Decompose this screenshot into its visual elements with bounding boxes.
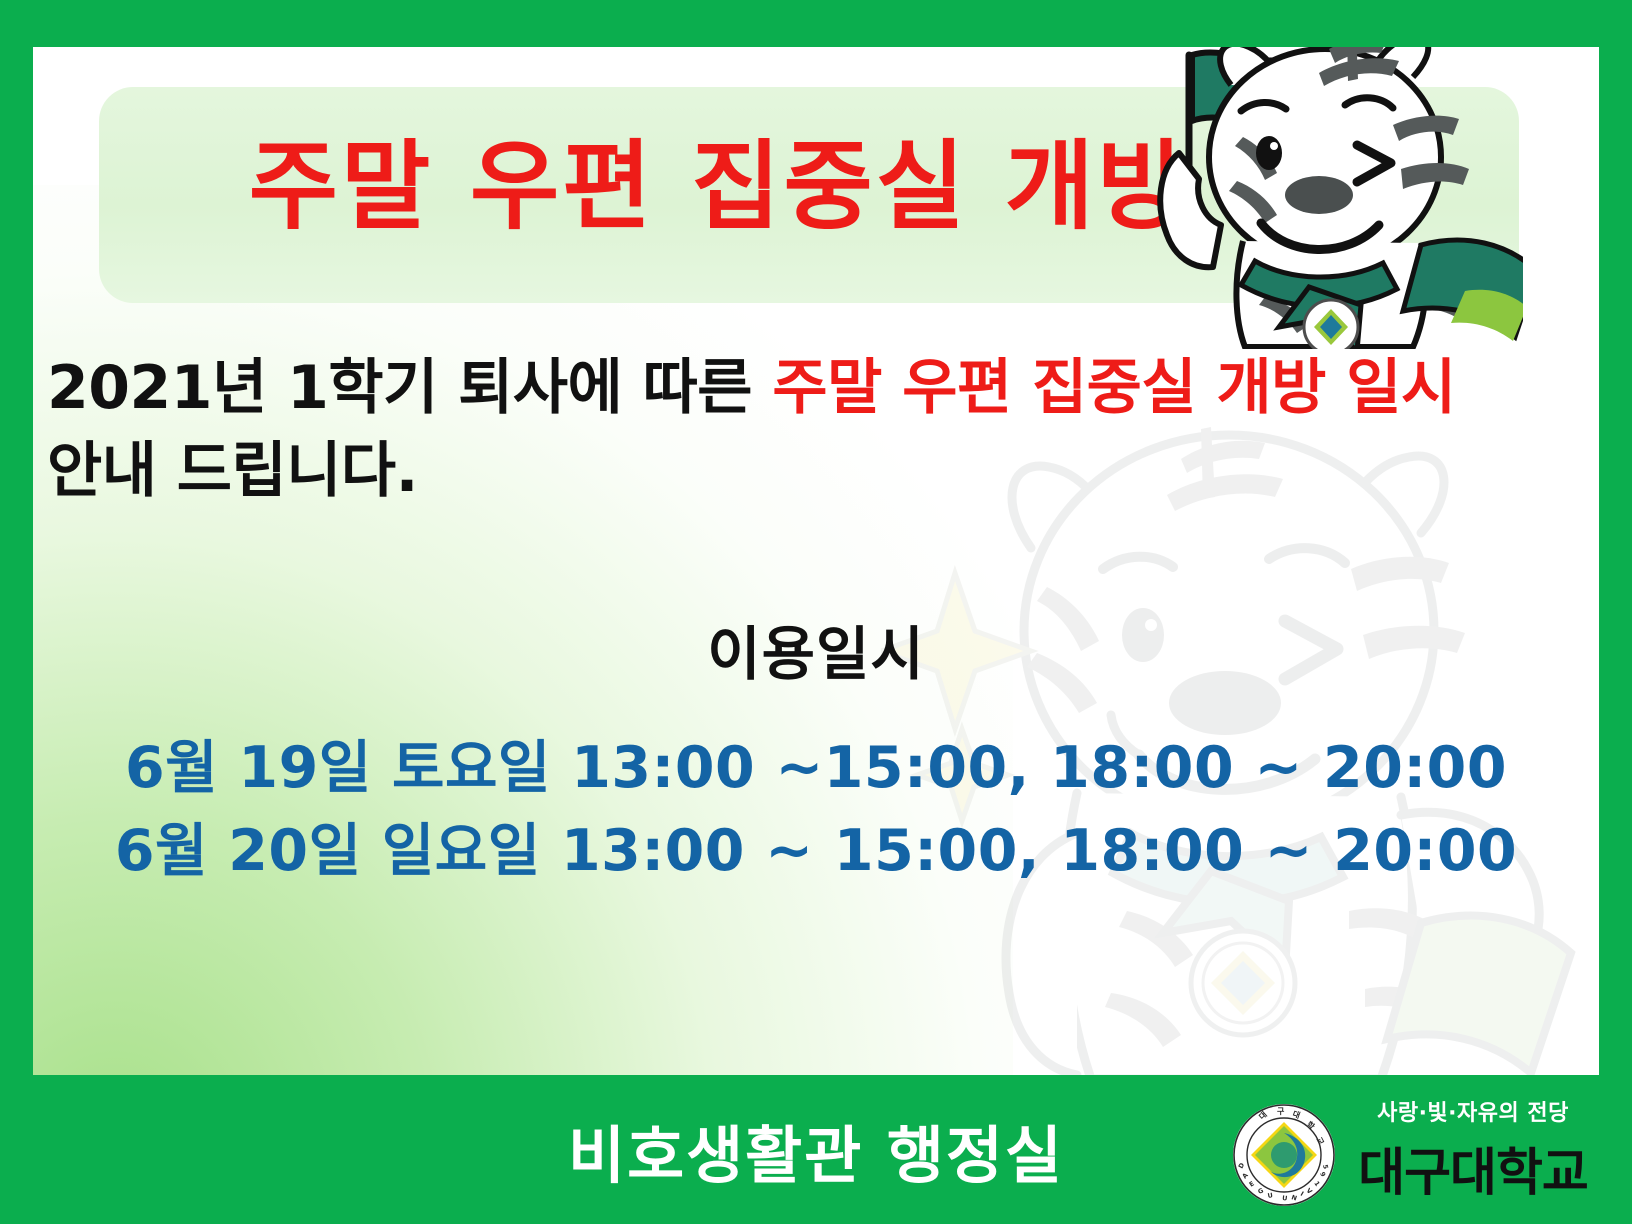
- body-line-1-black: 2021년 1학기 퇴사에 따른: [47, 353, 772, 423]
- university-logo: 대 구 대 학 교 D A E G U U N I: [1232, 1089, 1602, 1211]
- body-paragraph: 2021년 1학기 퇴사에 따른 주말 우편 집중실 개방 일시 안내 드립니다…: [47, 347, 1587, 513]
- university-tagline: 사랑·빛·자유의 전당: [1344, 1095, 1602, 1127]
- university-wordmark: 사랑·빛·자유의 전당 대구대학교: [1344, 1095, 1602, 1205]
- body-line-1-highlight: 주말 우편 집중실 개방 일시: [772, 353, 1455, 423]
- svg-text:구: 구: [1277, 1107, 1285, 1116]
- body-line-1: 2021년 1학기 퇴사에 따른 주말 우편 집중실 개방 일시: [47, 347, 1587, 430]
- poster-root: 주말 우편 집중실 개방: [0, 0, 1632, 1224]
- schedule-heading: 이용일시: [33, 607, 1599, 691]
- schedule-line-saturday: 6월 19일 토요일 13:00 ~15:00, 18:00 ~ 20:00: [33, 727, 1599, 810]
- footer-band: 비호생활관 행정실 대 구 대 학: [0, 1075, 1632, 1224]
- content-card: 주말 우편 집중실 개방: [33, 47, 1599, 1075]
- page-title: 주말 우편 집중실 개방: [219, 117, 1219, 258]
- schedule-line-sunday: 6월 20일 일요일 13:00 ~ 15:00, 18:00 ~ 20:00: [33, 810, 1599, 893]
- university-name: 대구대학교: [1344, 1131, 1602, 1205]
- white-tiger-mascot-with-flag-icon: [1093, 47, 1523, 349]
- body-line-2: 안내 드립니다.: [47, 430, 1587, 513]
- svg-text:U: U: [1282, 1194, 1288, 1203]
- schedule-block: 이용일시 6월 19일 토요일 13:00 ~15:00, 18:00 ~ 20…: [33, 607, 1599, 892]
- university-emblem-icon: 대 구 대 학 교 D A E G U U N I: [1232, 1103, 1336, 1207]
